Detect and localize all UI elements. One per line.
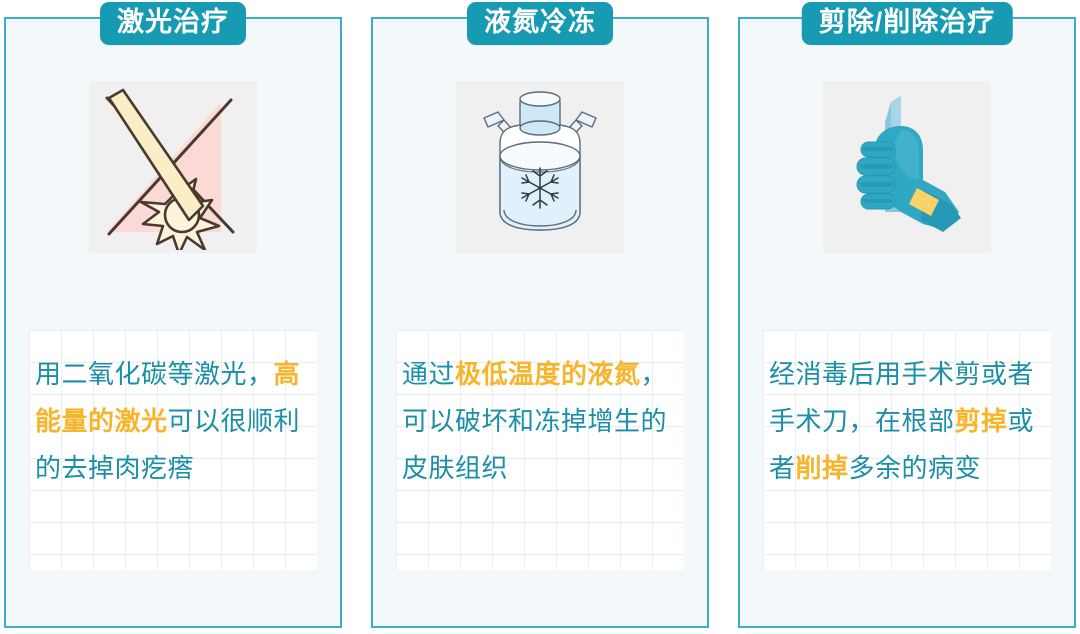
card-description-excision: 经消毒后用手术剪或者手术刀，在根部剪掉或者削掉多余的病变 (769, 351, 1045, 492)
text-segment-highlight: 极低温度的 (455, 359, 588, 389)
text-segment: 肤组织 (429, 453, 509, 483)
liquid-nitrogen-tank-icon (456, 81, 624, 253)
grid-paper-background-cryotherapy: 通过极低温度的液氮，可以破坏和冻掉增生的皮肤组织 (396, 330, 684, 570)
text-segment: 在根部 (875, 406, 955, 436)
laser-treatment-illustration (93, 84, 253, 250)
card-title-badge-cryotherapy: 液氮冷冻 (467, 2, 613, 45)
liquid-nitrogen-tank-illustration (460, 84, 620, 250)
text-segment: 通过 (402, 359, 455, 389)
text-segment: 经消毒后用手术 (769, 359, 955, 389)
text-segment-highlight: 削掉 (796, 453, 849, 483)
card-description-laser: 用二氧化碳等激光，高能量的激光可以很顺利的去掉肉疙瘩 (35, 351, 311, 492)
card-title-badge-laser: 激光治疗 (100, 2, 246, 45)
text-segment: 去掉肉疙瘩 (62, 453, 195, 483)
text-segment: 多余的病变 (849, 453, 982, 483)
grid-paper-background-laser: 用二氧化碳等激光，高能量的激光可以很顺利的去掉肉疙瘩 (29, 330, 317, 570)
treatment-options-board: 激光治疗 用二氧化碳等激光，高能量的激光可以很顺利的去掉肉疙瘩 液氮冷冻 (0, 0, 1080, 634)
scalpel-in-gloved-hand-icon (823, 81, 991, 253)
text-segment-highlight: 光 (141, 406, 168, 436)
laser-treatment-icon (89, 81, 257, 253)
text-segment-highlight: 液氮 (588, 359, 641, 389)
scalpel-illustration (827, 84, 987, 250)
card-description-cryotherapy: 通过极低温度的液氮，可以破坏和冻掉增生的皮肤组织 (402, 351, 678, 492)
grid-paper-background-excision: 经消毒后用手术剪或者手术刀，在根部剪掉或者削掉多余的病变 (763, 330, 1051, 570)
text-segment-highlight: 剪掉 (955, 406, 1008, 436)
treatment-card-excision: 剪除/削除治疗 (738, 17, 1076, 628)
treatment-card-cryotherapy: 液氮冷冻 (371, 17, 709, 628)
text-segment: 用二氧化碳等激 (35, 359, 221, 389)
card-title-badge-excision: 剪除/削除治疗 (802, 2, 1013, 45)
treatment-card-laser: 激光治疗 用二氧化碳等激光，高能量的激光可以很顺利的去掉肉疙瘩 (4, 17, 342, 628)
text-segment: 光， (221, 359, 274, 389)
